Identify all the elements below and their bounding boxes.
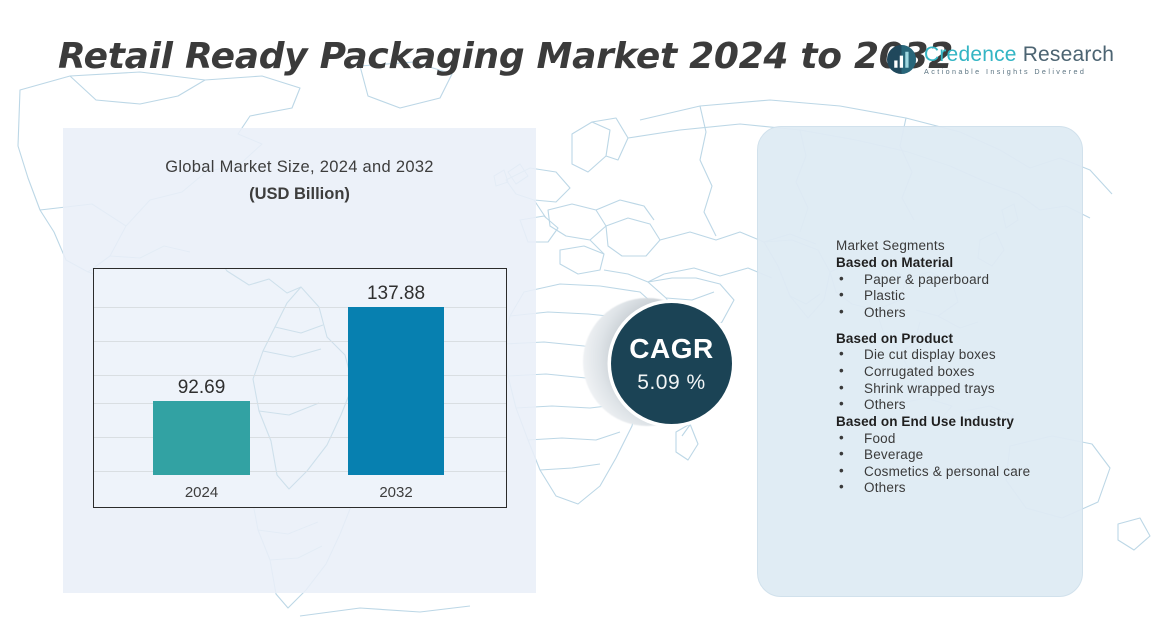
segment-item: •Others (836, 480, 1086, 497)
brand-logo: Credence Research Actionable Insights De… (886, 44, 1114, 75)
page-title: Retail Ready Packaging Market 2024 to 20… (58, 36, 953, 77)
segment-item: •Others (836, 305, 1086, 322)
segment-spacer (836, 322, 1086, 331)
segment-group-title: Based on End Use Industry (836, 414, 1086, 431)
chart-title: Global Market Size, 2024 and 2032 (USD B… (63, 158, 536, 204)
segments-heading: Market Segments (836, 238, 1086, 255)
bullet-icon: • (839, 363, 844, 380)
segments-groups: Based on Material•Paper & paperboard•Pla… (836, 255, 1086, 497)
segment-item-label: Beverage (864, 447, 923, 462)
bullet-icon: • (839, 380, 844, 397)
segment-item: •Corrugated boxes (836, 364, 1086, 381)
infographic-canvas: Retail Ready Packaging Market 2024 to 20… (0, 0, 1172, 622)
gridline (94, 341, 506, 342)
bar-2024 (153, 401, 250, 475)
segment-item-label: Others (864, 397, 906, 412)
segment-item-label: Corrugated boxes (864, 364, 975, 379)
segment-item-label: Shrink wrapped trays (864, 381, 995, 396)
segment-item: •Paper & paperboard (836, 272, 1086, 289)
chart-title-line2: (USD Billion) (63, 185, 536, 204)
bar-value-2024: 92.69 (153, 377, 250, 399)
segment-item-label: Cosmetics & personal care (864, 464, 1030, 479)
bullet-icon: • (839, 479, 844, 496)
segment-item: •Others (836, 397, 1086, 414)
segment-item: •Beverage (836, 447, 1086, 464)
segment-group-title: Based on Product (836, 331, 1086, 348)
cagr-value: 5.09 % (637, 372, 705, 393)
bar-chart-circle-icon (886, 44, 917, 75)
bar-chart-plot: 92.69 137.88 2024 2032 (93, 268, 507, 508)
segment-item-label: Die cut display boxes (864, 347, 996, 362)
bullet-icon: • (839, 346, 844, 363)
segment-item-label: Others (864, 480, 906, 495)
brand-wordmark: Credence Research Actionable Insights De… (924, 44, 1114, 75)
brand-name: Credence Research (924, 44, 1114, 65)
cagr-badge: CAGR 5.09 % (611, 303, 732, 424)
bullet-icon: • (839, 396, 844, 413)
bar-2032 (348, 307, 444, 475)
segment-item-label: Others (864, 305, 906, 320)
bar-label-2024: 2024 (153, 484, 250, 501)
bar-value-2032: 137.88 (348, 283, 444, 305)
bullet-icon: • (839, 430, 844, 447)
segment-item-label: Food (864, 431, 896, 446)
brand-tagline: Actionable Insights Delivered (924, 68, 1114, 75)
segment-item: •Cosmetics & personal care (836, 464, 1086, 481)
segment-item-list: •Paper & paperboard•Plastic•Others (836, 272, 1086, 322)
segment-item-list: •Food•Beverage•Cosmetics & personal care… (836, 431, 1086, 497)
cagr-label: CAGR (629, 335, 713, 363)
bar-label-2032: 2032 (348, 484, 444, 501)
segment-item-list: •Die cut display boxes•Corrugated boxes•… (836, 347, 1086, 413)
market-segments: Market Segments Based on Material•Paper … (836, 238, 1086, 497)
segment-item-label: Plastic (864, 288, 905, 303)
bullet-icon: • (839, 304, 844, 321)
segment-item: •Food (836, 431, 1086, 448)
segment-item-label: Paper & paperboard (864, 272, 989, 287)
segment-item: •Die cut display boxes (836, 347, 1086, 364)
bullet-icon: • (839, 463, 844, 480)
bullet-icon: • (839, 271, 844, 288)
segment-group-title: Based on Material (836, 255, 1086, 272)
segment-item: •Plastic (836, 288, 1086, 305)
gridline (94, 307, 506, 308)
chart-title-line1: Global Market Size, 2024 and 2032 (63, 158, 536, 177)
bullet-icon: • (839, 287, 844, 304)
bullet-icon: • (839, 446, 844, 463)
gridline (94, 375, 506, 376)
segment-item: •Shrink wrapped trays (836, 381, 1086, 398)
